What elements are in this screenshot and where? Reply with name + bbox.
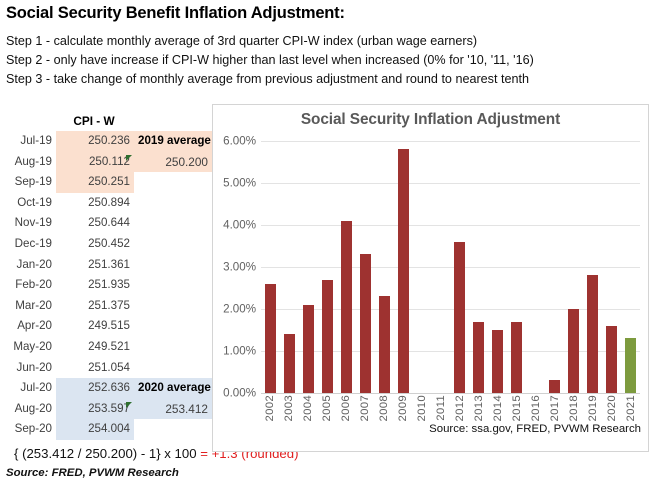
x-axis-tick-label: 2007 <box>359 395 371 422</box>
bottom-source-note: Source: FRED, PVWM Research <box>6 467 179 479</box>
x-axis-tick-label: 2012 <box>454 395 466 422</box>
x-axis-tick-label: 2021 <box>625 395 637 422</box>
x-axis-tick-label: 2011 <box>435 395 447 421</box>
cpi-row-value: 251.361 <box>56 255 134 276</box>
header-block: Social Security Benefit Inflation Adjust… <box>6 4 646 89</box>
x-axis-tick-label: 2019 <box>587 395 599 422</box>
y-axis-tick-label: 5.00% <box>223 177 256 190</box>
table-row: Jun-20251.054 <box>0 358 212 379</box>
table-row: Dec-19250.452 <box>0 234 212 255</box>
table-row: Sep-19250.251 <box>0 172 212 193</box>
y-axis-tick-label: 2.00% <box>223 303 256 316</box>
table-row: Aug-20253.597253.412 <box>0 399 212 420</box>
chart-gridline <box>261 393 640 394</box>
chart-bar <box>322 280 333 393</box>
table-row: Feb-20251.935 <box>0 275 212 296</box>
x-axis-tick-label: 2008 <box>378 395 390 422</box>
table-row: Sep-20254.004 <box>0 419 212 440</box>
chart-bar <box>360 254 371 393</box>
chart-bar <box>587 275 598 393</box>
y-axis-tick-label: 1.00% <box>223 345 256 358</box>
x-axis-tick-label: 2015 <box>511 395 523 422</box>
chart-gridline <box>261 141 640 142</box>
step-line-3: Step 3 - take change of monthly average … <box>6 70 646 89</box>
x-axis-tick-label: 2017 <box>549 395 561 422</box>
cpi-row-value: 254.004 <box>56 419 134 440</box>
chart-bar <box>492 330 503 393</box>
x-axis-tick-label: 2020 <box>606 395 618 422</box>
chart-bar <box>568 309 579 393</box>
cpi-row-value: 251.935 <box>56 275 134 296</box>
table-row: Apr-20249.515 <box>0 316 212 337</box>
cpi-row-month: Aug-20 <box>0 399 52 420</box>
cpi-row-month: Aug-19 <box>0 152 52 173</box>
cpi-column-header: CPI - W <box>55 114 133 128</box>
cpi-row-month: Apr-20 <box>0 316 52 337</box>
cpi-row-value: 250.894 <box>56 193 134 214</box>
cpi-row-month: May-20 <box>0 337 52 358</box>
chart-title: Social Security Inflation Adjustment <box>213 111 648 129</box>
average-label: 2019 average <box>138 131 212 152</box>
cpi-row-value: 250.236 <box>56 131 134 152</box>
cpi-table: CPI - W Jul-19250.2362019 averageAug-192… <box>0 114 212 440</box>
cpi-row-value: 250.251 <box>56 172 134 193</box>
chart-gridline <box>261 267 640 268</box>
x-axis-tick-label: 2013 <box>473 395 485 422</box>
cpi-row-month: Nov-19 <box>0 213 52 234</box>
cpi-table-header-row: CPI - W <box>0 114 212 131</box>
cpi-row-value: 249.515 <box>56 316 134 337</box>
cpi-row-value: 250.112 <box>56 152 134 173</box>
cpi-row-month: Mar-20 <box>0 296 52 317</box>
x-axis-tick-label: 2010 <box>416 395 428 422</box>
comment-corner-marker-icon <box>126 402 132 408</box>
average-value: 253.412 <box>130 399 212 420</box>
chart-bar <box>341 221 352 393</box>
cpi-row-month: Feb-20 <box>0 275 52 296</box>
x-axis-tick-label: 2014 <box>492 395 504 422</box>
x-axis-tick-label: 2003 <box>283 395 295 422</box>
cpi-row-month: Jul-20 <box>0 378 52 399</box>
chart-bar <box>625 338 636 393</box>
chart-gridline <box>261 309 640 310</box>
table-row: May-20249.521 <box>0 337 212 358</box>
cpi-row-value: 251.054 <box>56 358 134 379</box>
chart-bar <box>265 284 276 393</box>
y-axis-tick-label: 6.00% <box>223 135 256 148</box>
formula-expression: { (253.412 / 250.200) - 1} x 100 <box>14 446 200 461</box>
table-row: Nov-19250.644 <box>0 213 212 234</box>
table-row: Jan-20251.361 <box>0 255 212 276</box>
chart-bar <box>606 326 617 393</box>
cpi-row-value: 252.636 <box>56 378 134 399</box>
chart-gridline <box>261 225 640 226</box>
comment-corner-marker-icon <box>126 155 132 161</box>
chart-source-note: Source: ssa.gov, FRED, PVWM Research <box>429 423 641 435</box>
x-axis-tick-label: 2004 <box>302 395 314 422</box>
table-row: Jul-20252.6362020 average <box>0 378 212 399</box>
chart-panel: Social Security Inflation Adjustment 0.0… <box>212 104 649 452</box>
page-title: Social Security Benefit Inflation Adjust… <box>6 4 646 23</box>
chart-bar <box>398 149 409 393</box>
chart-gridline <box>261 183 640 184</box>
table-row: Mar-20251.375 <box>0 296 212 317</box>
chart-bar <box>284 334 295 393</box>
y-axis-tick-label: 4.00% <box>223 219 256 232</box>
cpi-row-month: Sep-20 <box>0 419 52 440</box>
average-label: 2020 average <box>138 378 212 399</box>
chart-bar <box>549 380 560 393</box>
cpi-row-month: Sep-19 <box>0 172 52 193</box>
table-row: Oct-19250.894 <box>0 193 212 214</box>
average-value: 250.200 <box>130 152 212 173</box>
cpi-row-month: Jun-20 <box>0 358 52 379</box>
cpi-row-month: Jan-20 <box>0 255 52 276</box>
step-line-1: Step 1 - calculate monthly average of 3r… <box>6 32 646 51</box>
chart-bar <box>511 322 522 393</box>
cpi-row-month: Jul-19 <box>0 131 52 152</box>
x-axis-tick-label: 2009 <box>397 395 409 422</box>
cpi-row-value: 253.597 <box>56 399 134 420</box>
table-row: Aug-19250.112250.200 <box>0 152 212 173</box>
cpi-row-month: Dec-19 <box>0 234 52 255</box>
x-axis-tick-label: 2002 <box>264 395 276 422</box>
y-axis-tick-label: 0.00% <box>223 387 256 400</box>
x-axis-tick-label: 2018 <box>568 395 580 422</box>
table-row: Jul-19250.2362019 average <box>0 131 212 152</box>
cpi-row-value: 250.644 <box>56 213 134 234</box>
chart-gridline <box>261 351 640 352</box>
cpi-row-value: 251.375 <box>56 296 134 317</box>
x-axis-tick-label: 2006 <box>340 395 352 422</box>
cpi-row-value: 250.452 <box>56 234 134 255</box>
x-axis-tick-label: 2016 <box>530 395 542 422</box>
cpi-row-value: 249.521 <box>56 337 134 358</box>
cpi-row-month: Oct-19 <box>0 193 52 214</box>
chart-bar <box>379 296 390 393</box>
chart-bar <box>454 242 465 393</box>
chart-bar <box>303 305 314 393</box>
x-axis-tick-label: 2005 <box>321 395 333 422</box>
step-line-2: Step 2 - only have increase if CPI-W hig… <box>6 51 646 70</box>
chart-bar <box>473 322 484 393</box>
y-axis-tick-label: 3.00% <box>223 261 256 274</box>
chart-plot-area: 0.00%1.00%2.00%3.00%4.00%5.00%6.00% <box>261 141 640 393</box>
